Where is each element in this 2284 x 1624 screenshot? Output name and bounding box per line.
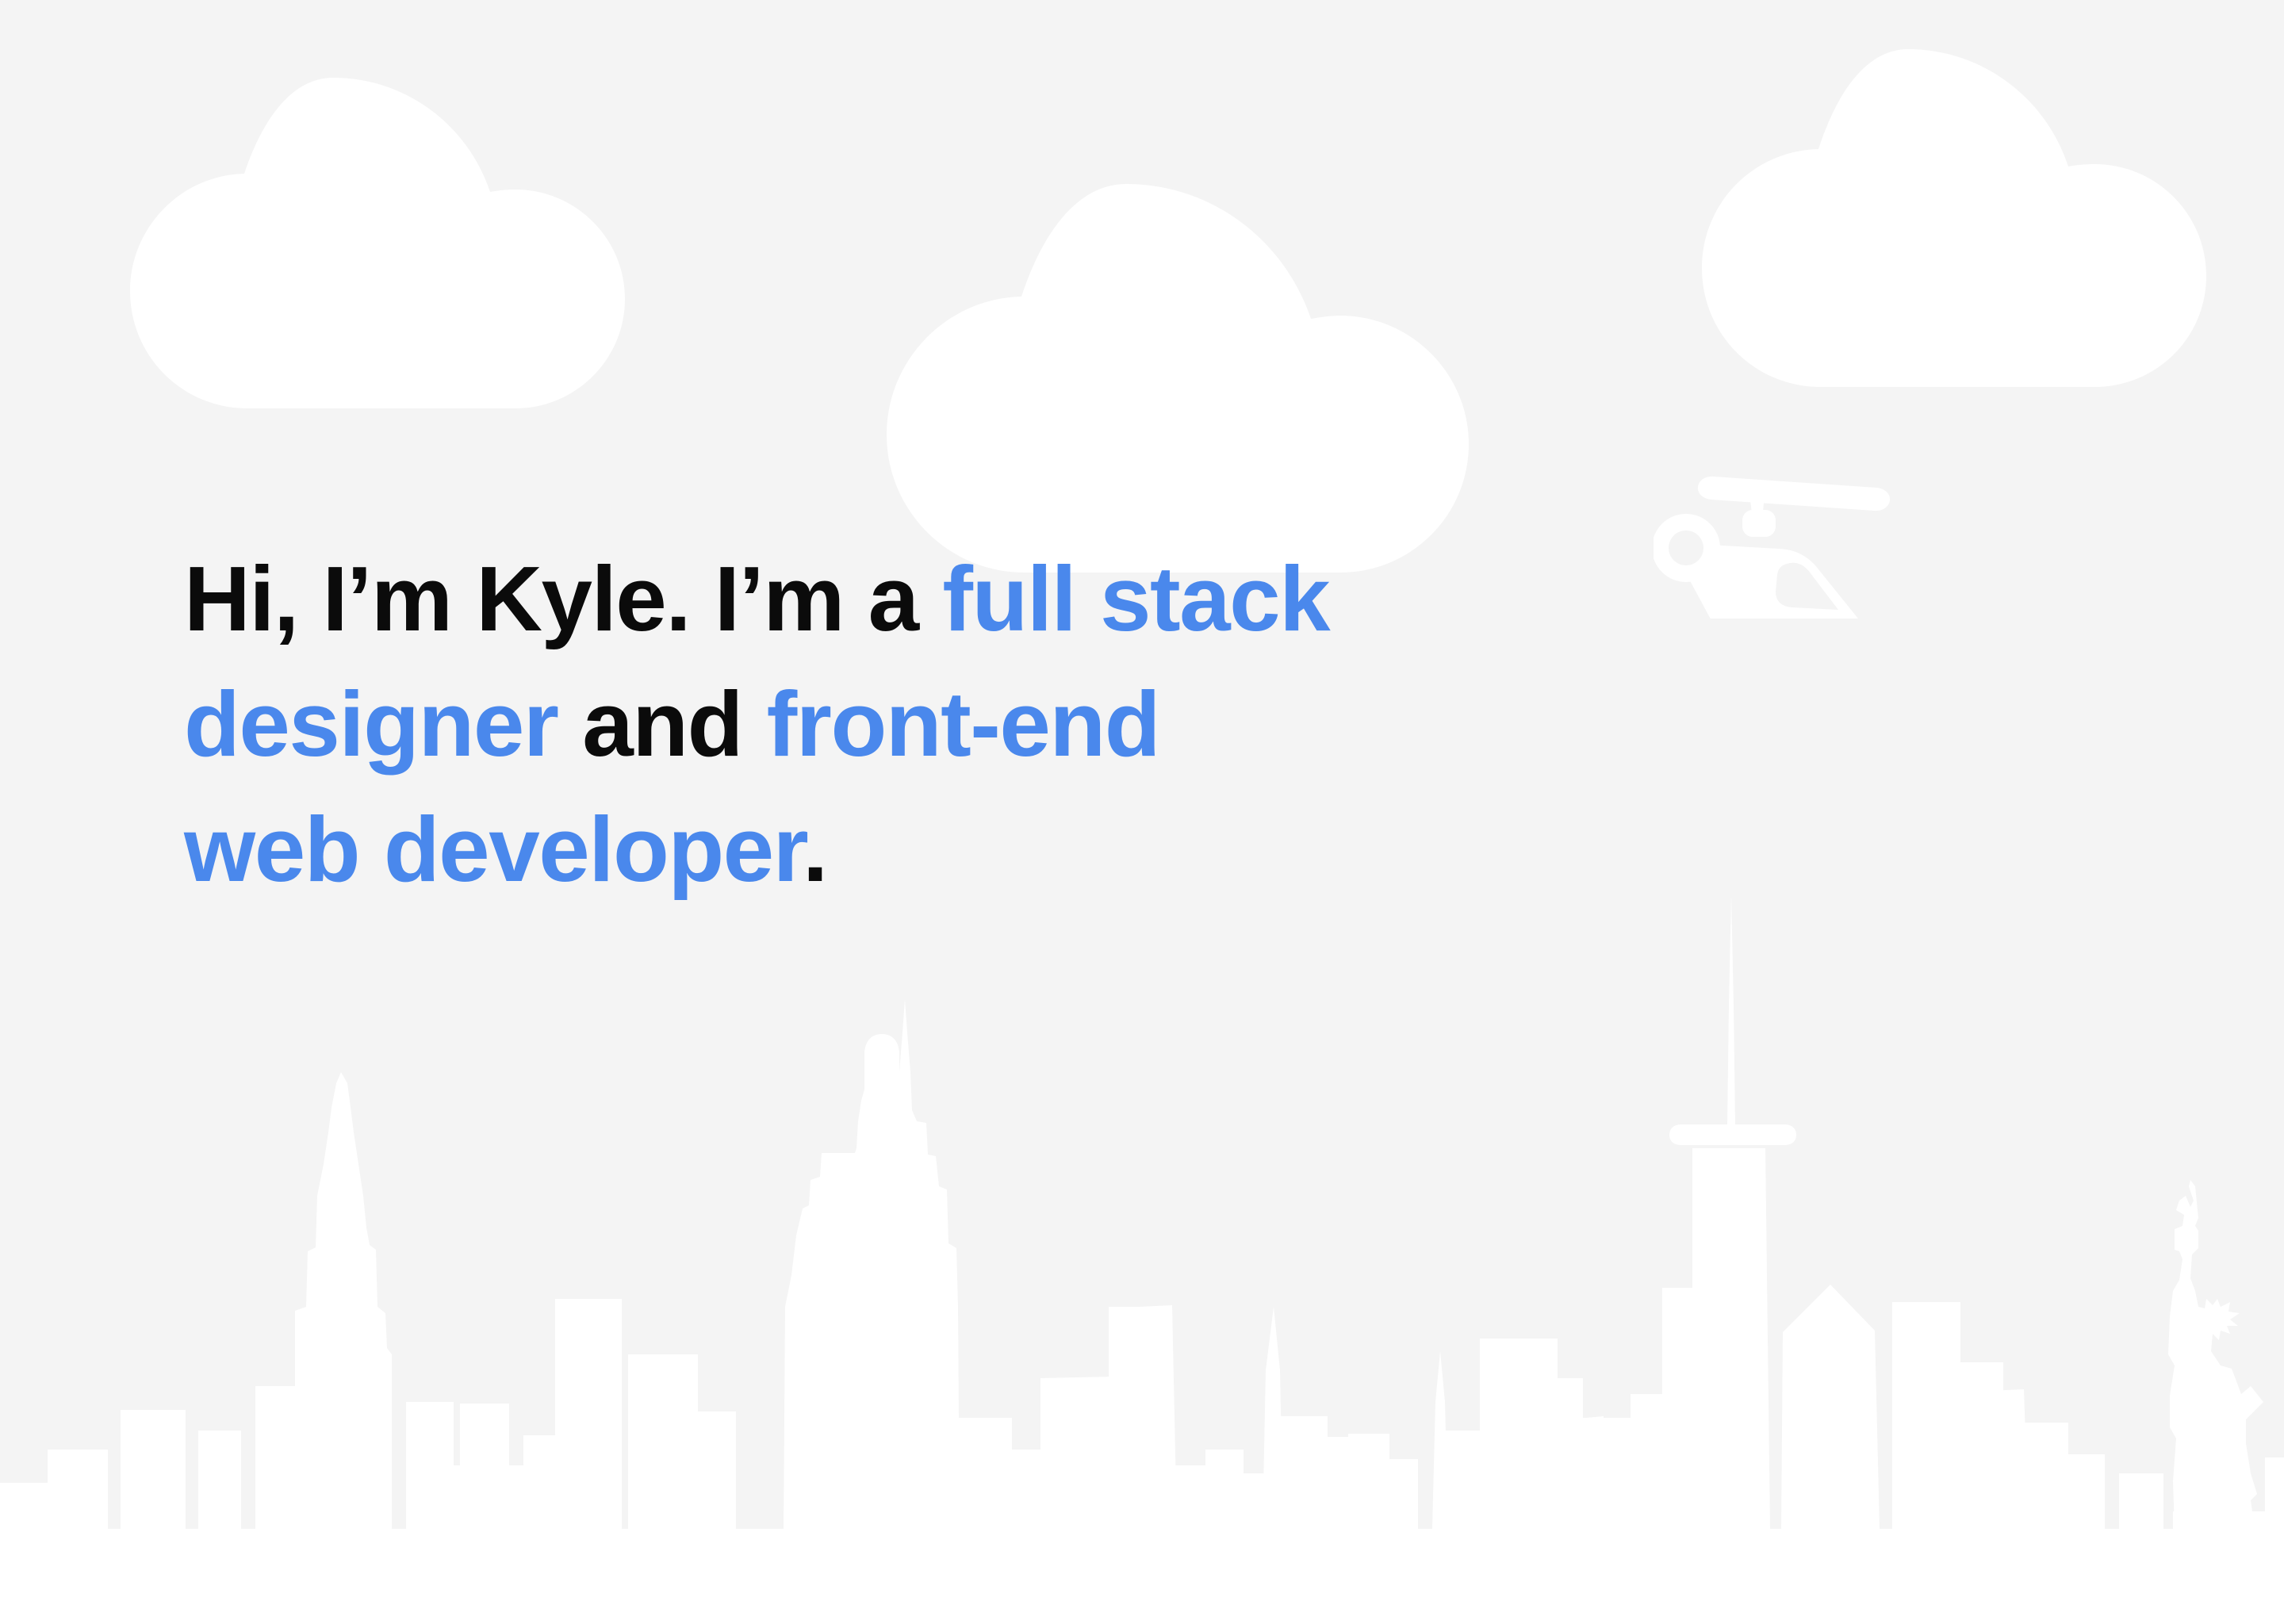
building-block — [1139, 1305, 1177, 1529]
building-block — [956, 1418, 1012, 1545]
skyline-ground-strip — [0, 1592, 2284, 1624]
headline-segment-period: . — [803, 798, 827, 901]
building-block — [1205, 1450, 1244, 1545]
empire-state-building — [784, 999, 960, 1529]
cloud-left-icon — [130, 78, 625, 408]
building-block — [1432, 1351, 1448, 1529]
building-block — [1006, 1450, 1047, 1545]
helicopter-decoration — [1654, 472, 1907, 619]
building-block — [1480, 1339, 1558, 1545]
building-block — [198, 1431, 241, 1545]
chrysler-building — [295, 1072, 392, 1529]
building-block — [1263, 1307, 1283, 1529]
building-block — [1378, 1459, 1418, 1545]
building-block — [0, 1483, 56, 1546]
building-block — [48, 1450, 108, 1545]
building-block — [1546, 1378, 1583, 1545]
building-block — [412, 1465, 523, 1545]
building-block — [523, 1435, 555, 1545]
headline-segment-designer: designer — [184, 672, 558, 776]
headline-segment-front-end: front-end — [767, 672, 1159, 776]
building-block — [628, 1354, 698, 1545]
building-block — [1983, 1389, 2029, 1529]
building-block — [1951, 1362, 2003, 1545]
building-block — [2173, 1511, 2273, 1546]
headline-segment-full-stack: full stack — [942, 547, 1329, 650]
cloud-center-icon — [887, 184, 1469, 573]
building-block — [1348, 1434, 1389, 1545]
building-block — [406, 1402, 454, 1545]
headline-segment-and: and — [558, 672, 766, 776]
building-block — [1781, 1285, 1880, 1529]
building-block — [2265, 1457, 2284, 1545]
building-block — [1316, 1437, 1353, 1545]
page-title: Hi, I’m Kyle. I’m a full stackdesigner a… — [184, 536, 1532, 912]
building-block — [554, 1465, 601, 1545]
building-block — [255, 1386, 347, 1545]
building-block — [460, 1404, 509, 1545]
building-block — [1435, 1431, 1483, 1545]
building-block — [1575, 1418, 1637, 1545]
building-block — [1171, 1465, 1218, 1545]
building-block — [1109, 1307, 1140, 1545]
building-block — [1212, 1473, 1267, 1545]
hero-banner: Hi, I’m Kyle. I’m a full stackdesigner a… — [0, 0, 2284, 1624]
building-block — [2119, 1473, 2163, 1545]
statue-of-liberty — [2168, 1180, 2265, 1543]
building-block — [868, 1465, 963, 1545]
building-block — [555, 1299, 622, 1545]
building-block — [1631, 1394, 1680, 1545]
helicopter-icon — [1654, 477, 1890, 619]
cloud-right-icon — [1702, 49, 2206, 387]
building-block — [2062, 1454, 2105, 1545]
building-block — [1040, 1377, 1120, 1529]
building-block — [1892, 1302, 1960, 1545]
building-block — [1662, 1288, 1692, 1545]
building-block — [688, 1411, 736, 1545]
building-block — [121, 1410, 186, 1545]
building-block — [2019, 1423, 2068, 1545]
building-block — [1277, 1416, 1328, 1545]
building-block — [1190, 1489, 1285, 1545]
building-block — [1583, 1416, 1607, 1529]
headline-segment-web-developer: web developer — [184, 798, 803, 901]
building-block — [1686, 1305, 1710, 1529]
one-world-trade-center — [1669, 894, 1796, 1529]
headline-segment-greeting: Hi, I’m Kyle. I’m a — [184, 547, 942, 650]
